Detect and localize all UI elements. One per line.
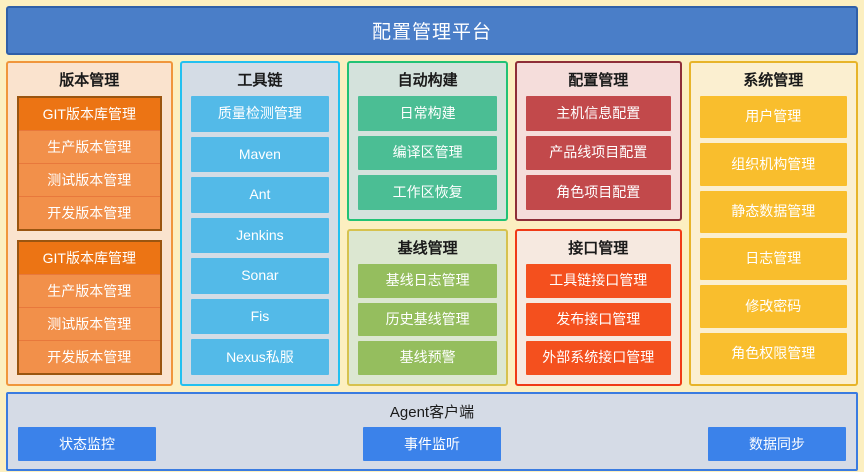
panel-title-baseline: 基线管理 bbox=[349, 231, 506, 264]
system-item-role-permission[interactable]: 角色权限管理 bbox=[700, 333, 848, 375]
baseline-item-alert[interactable]: 基线预警 bbox=[358, 341, 497, 375]
build-item-compile-area[interactable]: 编译区管理 bbox=[358, 136, 497, 171]
build-item-daily[interactable]: 日常构建 bbox=[358, 96, 497, 131]
baseline-item-log[interactable]: 基线日志管理 bbox=[358, 264, 497, 298]
page-title: 配置管理平台 bbox=[6, 6, 858, 55]
interface-management-items: 工具链接口管理 发布接口管理 外部系统接口管理 bbox=[517, 264, 680, 384]
agent-client-title: Agent客户端 bbox=[18, 398, 846, 427]
panel-title-auto-build: 自动构建 bbox=[349, 63, 506, 96]
toolchain-item-nexus[interactable]: Nexus私服 bbox=[191, 339, 330, 375]
system-item-organization[interactable]: 组织机构管理 bbox=[700, 143, 848, 185]
toolchain-item-sonar[interactable]: Sonar bbox=[191, 258, 330, 294]
version-item-development[interactable]: 开发版本管理 bbox=[19, 196, 160, 229]
agent-button-data-sync[interactable]: 数据同步 bbox=[708, 427, 846, 461]
panel-title-system-management: 系统管理 bbox=[691, 63, 857, 96]
agent-button-status-monitor[interactable]: 状态监控 bbox=[18, 427, 156, 461]
column-toolchain: 工具链 质量检测管理 Maven Ant Jenkins Sonar Fis N… bbox=[180, 61, 341, 386]
panel-title-config-management: 配置管理 bbox=[517, 63, 680, 96]
system-management-panel[interactable]: 系统管理 用户管理 组织机构管理 静态数据管理 日志管理 修改密码 角色权限管理 bbox=[689, 61, 859, 386]
system-item-static-data[interactable]: 静态数据管理 bbox=[700, 191, 848, 233]
module-columns: 版本管理 GIT版本库管理 生产版本管理 测试版本管理 开发版本管理 GIT版本… bbox=[6, 61, 858, 386]
config-item-role-project[interactable]: 角色项目配置 bbox=[526, 175, 671, 210]
baseline-items: 基线日志管理 历史基线管理 基线预警 bbox=[349, 264, 506, 384]
interface-item-release[interactable]: 发布接口管理 bbox=[526, 303, 671, 337]
baseline-item-history[interactable]: 历史基线管理 bbox=[358, 303, 497, 337]
toolchain-item-ant[interactable]: Ant bbox=[191, 177, 330, 213]
agent-client-buttons: 状态监控 事件监听 数据同步 bbox=[18, 427, 846, 461]
config-item-product-line[interactable]: 产品线项目配置 bbox=[526, 136, 671, 171]
version-item-development-2[interactable]: 开发版本管理 bbox=[19, 340, 160, 373]
interface-item-external-system[interactable]: 外部系统接口管理 bbox=[526, 341, 671, 375]
version-item-test-2[interactable]: 测试版本管理 bbox=[19, 307, 160, 340]
config-management-items: 主机信息配置 产品线项目配置 角色项目配置 bbox=[517, 96, 680, 219]
version-item-production-2[interactable]: 生产版本管理 bbox=[19, 274, 160, 307]
system-item-user[interactable]: 用户管理 bbox=[700, 96, 848, 138]
version-item-git-repo-2[interactable]: GIT版本库管理 bbox=[19, 242, 160, 274]
config-management-panel[interactable]: 配置管理 主机信息配置 产品线项目配置 角色项目配置 bbox=[515, 61, 682, 221]
version-item-test[interactable]: 测试版本管理 bbox=[19, 163, 160, 196]
build-item-workspace-restore[interactable]: 工作区恢复 bbox=[358, 175, 497, 210]
version-repo-group-1[interactable]: GIT版本库管理 生产版本管理 测试版本管理 开发版本管理 bbox=[17, 96, 162, 231]
baseline-panel[interactable]: 基线管理 基线日志管理 历史基线管理 基线预警 bbox=[347, 229, 508, 386]
column-version-management: 版本管理 GIT版本库管理 生产版本管理 测试版本管理 开发版本管理 GIT版本… bbox=[6, 61, 173, 386]
config-item-host-info[interactable]: 主机信息配置 bbox=[526, 96, 671, 131]
version-item-git-repo[interactable]: GIT版本库管理 bbox=[19, 98, 160, 130]
toolchain-item-quality[interactable]: 质量检测管理 bbox=[191, 96, 330, 132]
system-item-change-password[interactable]: 修改密码 bbox=[700, 285, 848, 327]
version-management-panel[interactable]: 版本管理 GIT版本库管理 生产版本管理 测试版本管理 开发版本管理 GIT版本… bbox=[6, 61, 173, 386]
platform-diagram: 配置管理平台 版本管理 GIT版本库管理 生产版本管理 测试版本管理 开发版本管… bbox=[6, 6, 858, 466]
panel-title-interface-management: 接口管理 bbox=[517, 231, 680, 264]
column-build-baseline: 自动构建 日常构建 编译区管理 工作区恢复 基线管理 基线日志管理 历史基线管理… bbox=[347, 61, 508, 386]
version-repo-group-2[interactable]: GIT版本库管理 生产版本管理 测试版本管理 开发版本管理 bbox=[17, 240, 162, 375]
toolchain-items: 质量检测管理 Maven Ant Jenkins Sonar Fis Nexus… bbox=[182, 96, 339, 384]
panel-title-toolchain: 工具链 bbox=[182, 63, 339, 96]
toolchain-item-maven[interactable]: Maven bbox=[191, 137, 330, 173]
agent-button-event-listener[interactable]: 事件监听 bbox=[363, 427, 501, 461]
panel-title-version-management: 版本管理 bbox=[8, 63, 171, 96]
toolchain-panel[interactable]: 工具链 质量检测管理 Maven Ant Jenkins Sonar Fis N… bbox=[180, 61, 341, 386]
auto-build-panel[interactable]: 自动构建 日常构建 编译区管理 工作区恢复 bbox=[347, 61, 508, 221]
column-system-management: 系统管理 用户管理 组织机构管理 静态数据管理 日志管理 修改密码 角色权限管理 bbox=[689, 61, 859, 386]
system-management-items: 用户管理 组织机构管理 静态数据管理 日志管理 修改密码 角色权限管理 bbox=[691, 96, 857, 384]
interface-management-panel[interactable]: 接口管理 工具链接口管理 发布接口管理 外部系统接口管理 bbox=[515, 229, 682, 386]
system-item-log[interactable]: 日志管理 bbox=[700, 238, 848, 280]
auto-build-items: 日常构建 编译区管理 工作区恢复 bbox=[349, 96, 506, 219]
column-config-interface: 配置管理 主机信息配置 产品线项目配置 角色项目配置 接口管理 工具链接口管理 … bbox=[515, 61, 682, 386]
interface-item-toolchain[interactable]: 工具链接口管理 bbox=[526, 264, 671, 298]
version-item-production[interactable]: 生产版本管理 bbox=[19, 130, 160, 163]
agent-client-panel: Agent客户端 状态监控 事件监听 数据同步 bbox=[6, 392, 858, 471]
toolchain-item-fis[interactable]: Fis bbox=[191, 299, 330, 335]
toolchain-item-jenkins[interactable]: Jenkins bbox=[191, 218, 330, 254]
